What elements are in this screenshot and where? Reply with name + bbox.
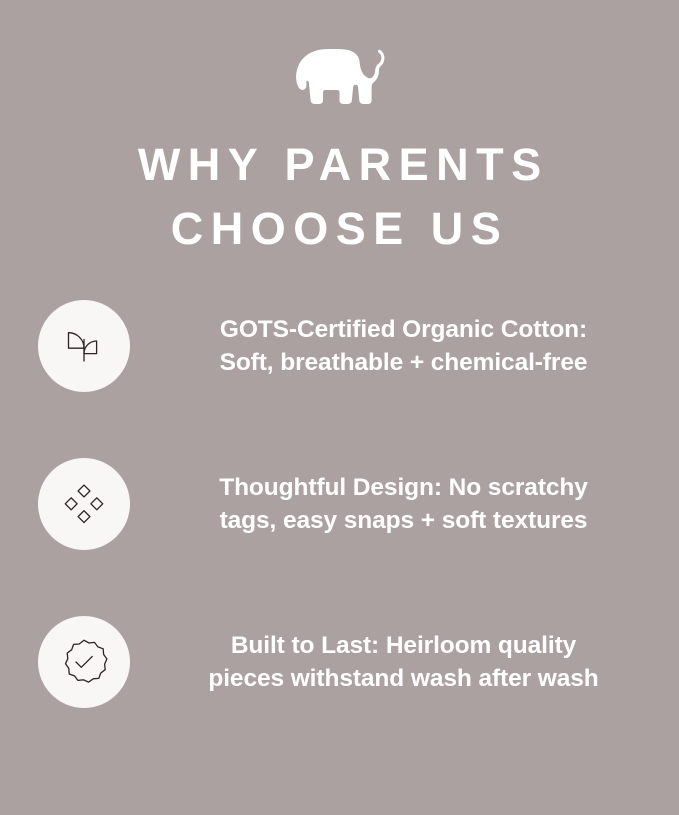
benefit-icon-circle <box>38 458 130 550</box>
leaf-sprout-icon <box>62 324 106 368</box>
elephant-icon <box>294 42 386 108</box>
page-title: WHY PARENTS CHOOSE US <box>0 133 679 261</box>
brand-logo <box>0 38 679 112</box>
benefit-text: GOTS-Certified Organic Cotton: Soft, bre… <box>130 313 679 379</box>
benefit-row: Built to Last: Heirloom quality pieces w… <box>0 616 679 708</box>
benefits-list: GOTS-Certified Organic Cotton: Soft, bre… <box>0 300 679 708</box>
benefit-text: Thoughtful Design: No scratchy tags, eas… <box>130 471 679 537</box>
benefit-row: Thoughtful Design: No scratchy tags, eas… <box>0 458 679 550</box>
benefit-text: Built to Last: Heirloom quality pieces w… <box>130 629 679 695</box>
benefit-row: GOTS-Certified Organic Cotton: Soft, bre… <box>0 300 679 392</box>
benefit-icon-circle <box>38 616 130 708</box>
why-parents-choose-us-panel: WHY PARENTS CHOOSE US <box>0 0 679 815</box>
benefit-icon-circle <box>38 300 130 392</box>
four-diamonds-icon <box>62 482 106 526</box>
scalloped-badge-check-icon <box>59 637 109 687</box>
